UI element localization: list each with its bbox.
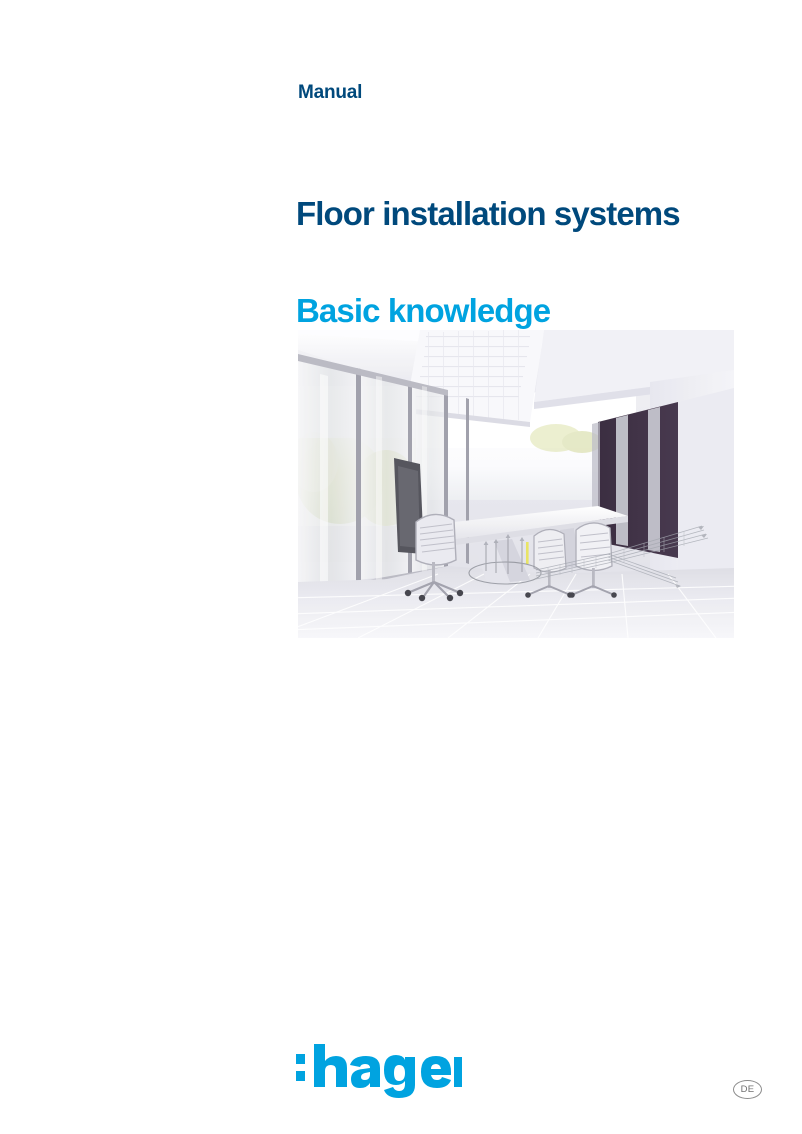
page-subtitle: Basic knowledge (296, 293, 550, 329)
hero-image-illustration (298, 330, 734, 638)
document-type-label: Manual (298, 83, 362, 104)
page-title: Floor installation systems (296, 196, 680, 232)
language-badge: DE (733, 1080, 762, 1099)
hero-image (298, 330, 734, 638)
cover-page: Manual Floor installation systems Basic … (0, 0, 802, 1134)
hager-logo (292, 1040, 462, 1098)
hager-logo-mark (292, 1040, 462, 1098)
